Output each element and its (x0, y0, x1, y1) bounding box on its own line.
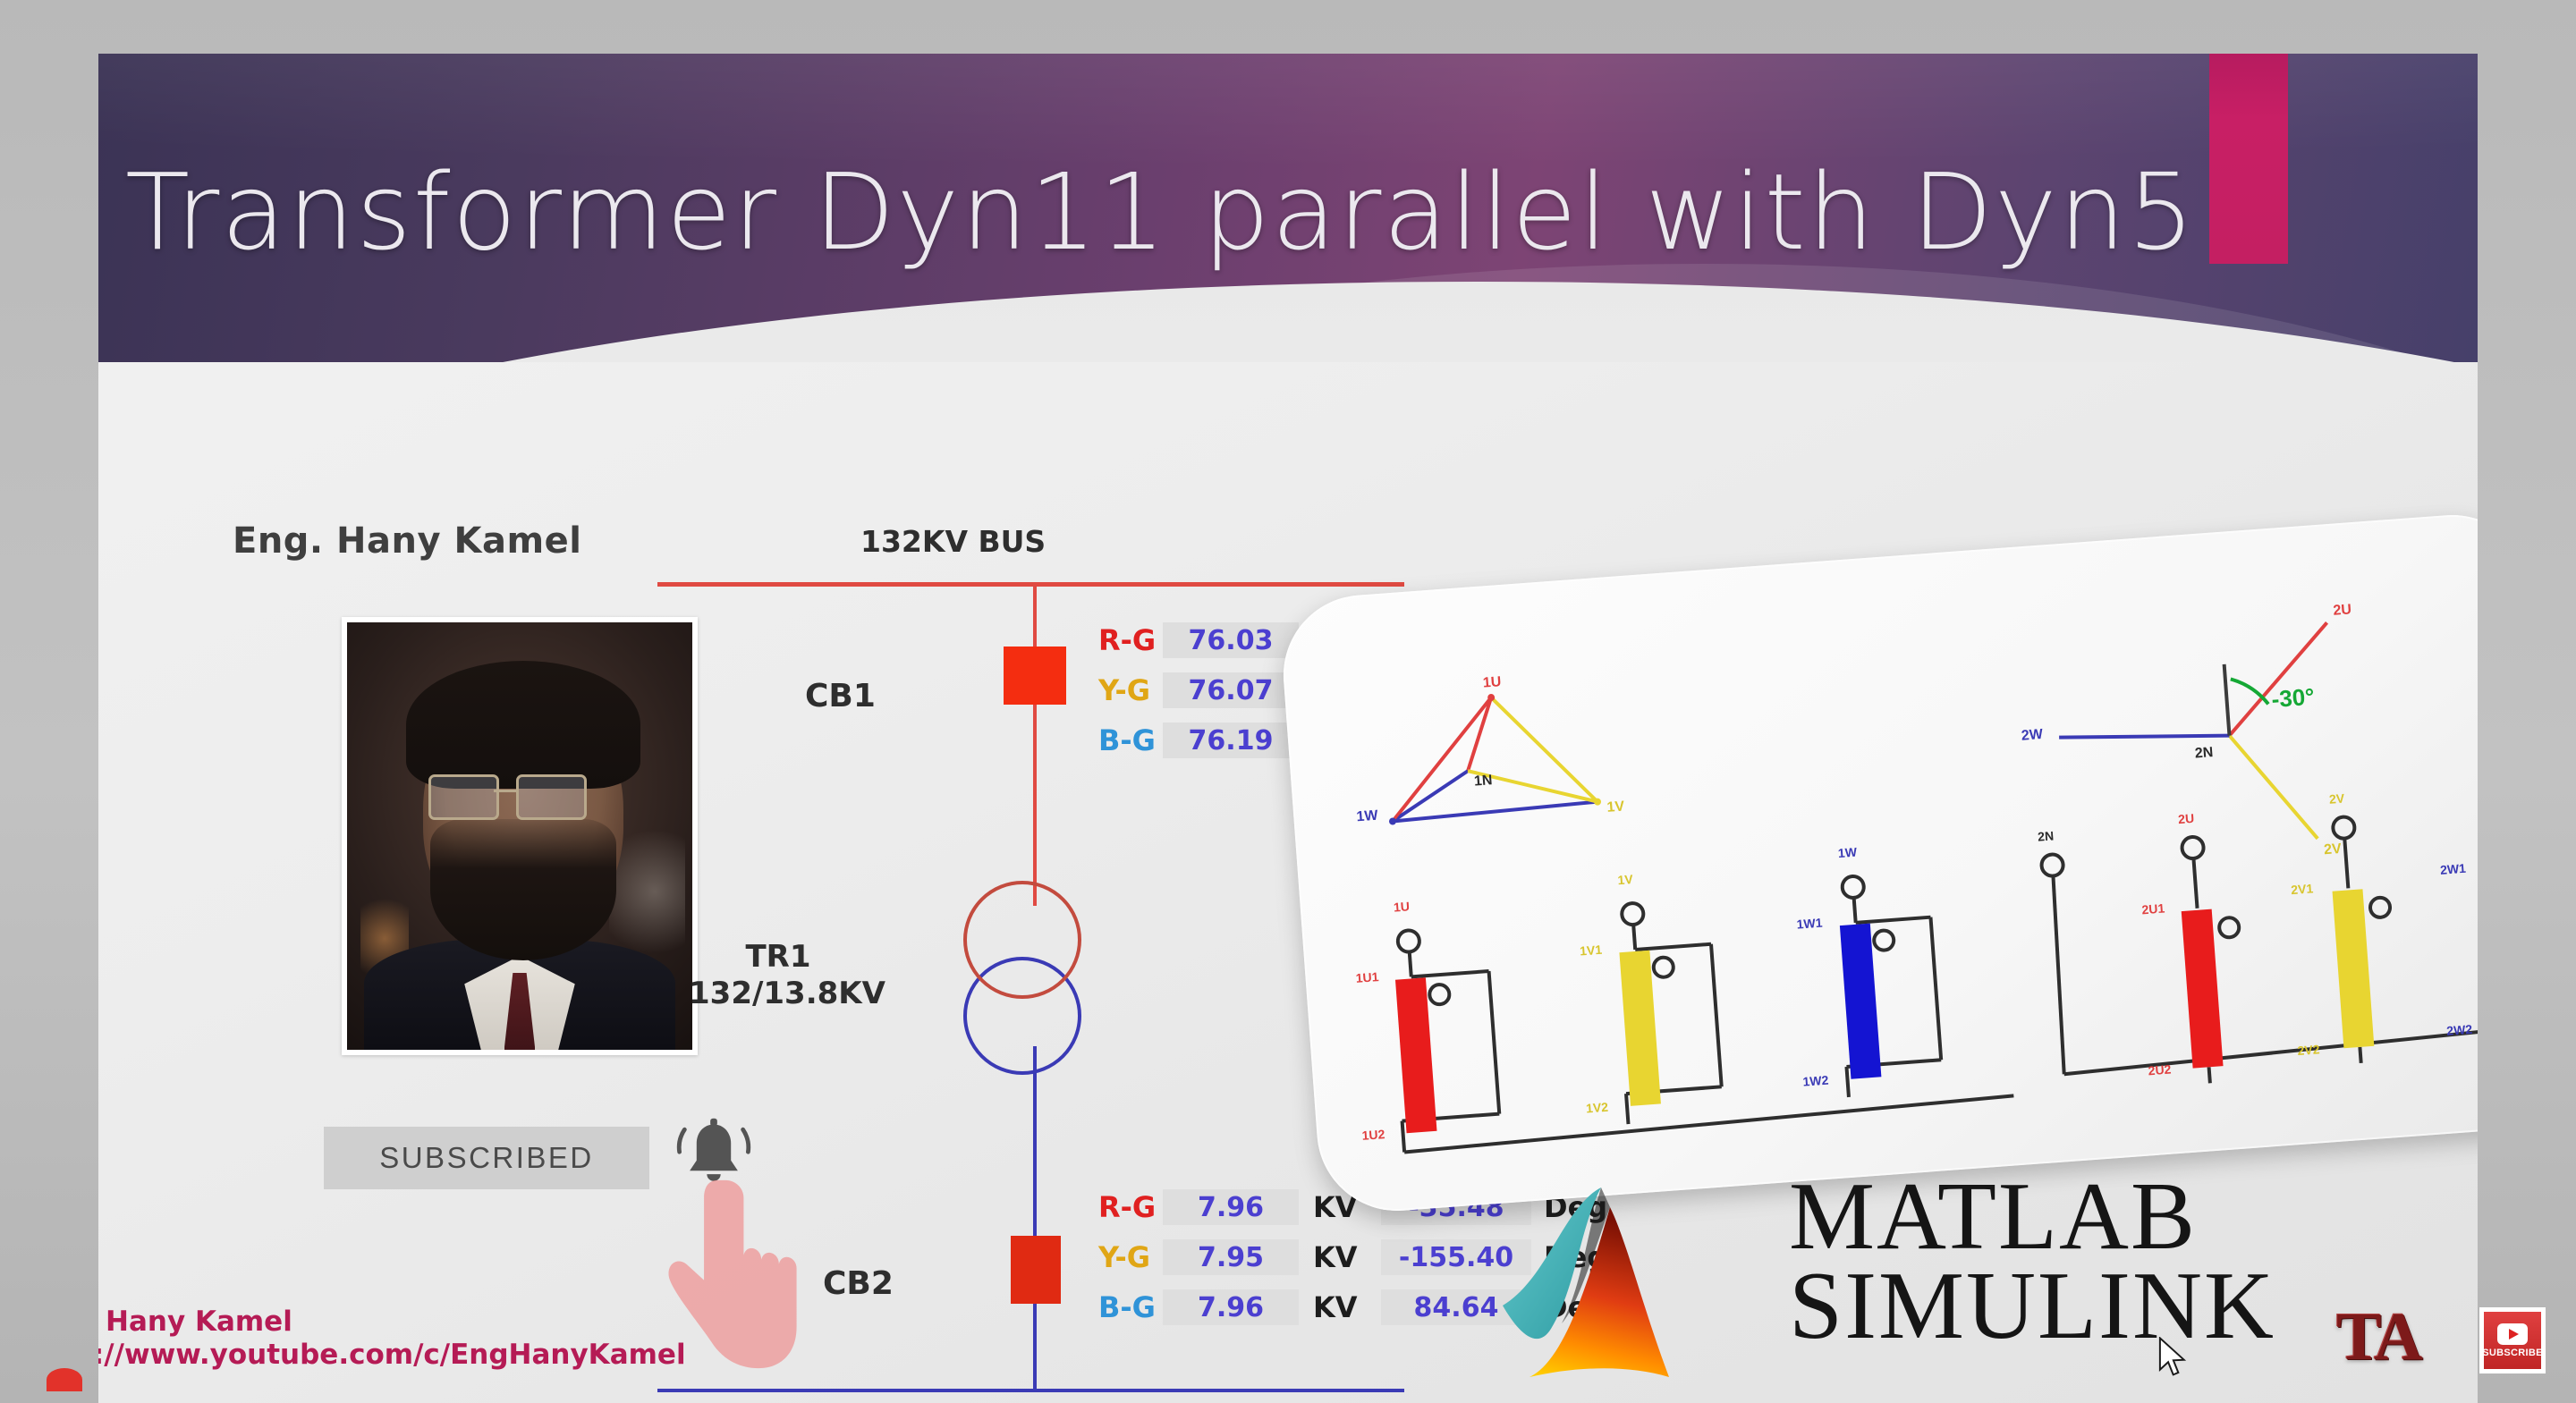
hv-bus-label: 132KV BUS (860, 524, 1046, 559)
watermark: Eng. Hany Kamel http://www.youtube.com/c… (98, 1306, 671, 1371)
photo-glasses-right (516, 774, 587, 820)
title-banner: Transformer Dyn11 parallel with Dyn5 (98, 54, 2478, 362)
subscribe-badge[interactable]: SUBSCRIBE (2479, 1307, 2546, 1373)
accent-bar (2209, 54, 2288, 264)
phasor-label-2w: 2W (2021, 727, 2044, 744)
coil-label-1w1: 1W1 (1796, 916, 1823, 932)
transformer-primary-coil (963, 881, 1081, 999)
presenter-name: Eng. Hany Kamel (233, 520, 582, 562)
winding-delta-coils (1394, 924, 1883, 1134)
voltage-unit: KV (1299, 1240, 1381, 1274)
coil-label-1v1: 1V1 (1580, 942, 1603, 959)
cb2-label: CB2 (823, 1265, 894, 1302)
phase-label: Y-G (1098, 1240, 1163, 1274)
cb1-label: CB1 (805, 678, 876, 714)
watermark-url: http://www.youtube.com/c/EngHanyKamel (98, 1339, 671, 1372)
coil-label-1u1: 1U1 (1355, 969, 1379, 985)
phasor-label-2v: 2V (2324, 841, 2343, 858)
avatar (342, 617, 698, 1055)
transformer-name: TR1 (689, 939, 868, 976)
terminal-node-2n (2041, 854, 2064, 877)
winding-star-diagram (2039, 794, 2478, 1095)
terminal-1u: 1U (1393, 899, 1410, 914)
photo-glasses-bridge (494, 790, 516, 792)
record-indicator (47, 1368, 82, 1391)
phase-label: R-G (1098, 623, 1163, 657)
subscribe-badge-inner: SUBSCRIBE (2484, 1312, 2541, 1369)
coil-label-2v1: 2V1 (2291, 881, 2314, 897)
coil-2u (2182, 909, 2224, 1069)
subscribed-button-label: SUBSCRIBED (379, 1141, 594, 1175)
coil-label-1w2: 1W2 (1802, 1073, 1829, 1089)
matlab-membrane-icon (1494, 1154, 1789, 1403)
phase-shift-annotation: -30° (2271, 683, 2316, 713)
matlab-simulink-logo: MATLAB SIMULINK (1494, 1154, 2451, 1403)
terminal-1w: 1W (1837, 845, 1858, 861)
coil-label-2u1: 2U1 (2141, 901, 2165, 917)
mouse-cursor (2157, 1337, 2188, 1380)
terminal-2u: 2U (2178, 811, 2195, 826)
vector-group-diagrams: 1U 1V 1W 1N -30° 2U 2V 2W 2N (1278, 510, 2478, 1217)
coil-label-1u2: 1U2 (1361, 1127, 1385, 1143)
voltage-unit: KV (1299, 1290, 1381, 1324)
subscribed-button[interactable]: SUBSCRIBED (324, 1127, 649, 1189)
phase-label: B-G (1098, 1290, 1163, 1324)
phasor-label-2n: 2N (2194, 745, 2214, 761)
coil-label-2v2: 2V2 (2297, 1042, 2320, 1058)
voltage-value: 76.19 (1163, 723, 1299, 758)
transformer-label: TR1 132/13.8KV (689, 939, 868, 1013)
voltage-value: 76.03 (1163, 622, 1299, 658)
ta-brand-logo: TA (2336, 1298, 2420, 1376)
coil-label-2w1: 2W1 (2440, 861, 2467, 877)
subscribe-badge-label: SUBSCRIBE (2482, 1348, 2543, 1358)
phase-label: R-G (1098, 1190, 1163, 1224)
coil-label-1v2: 1V2 (1585, 1100, 1608, 1116)
coil-2v (2333, 889, 2375, 1048)
watermark-name: Eng. Hany Kamel (98, 1306, 671, 1339)
phase-label: Y-G (1098, 673, 1163, 707)
lv-feeder-line (1033, 1046, 1037, 1391)
phasor-label-1v: 1V (1606, 799, 1625, 815)
terminal-2n: 2N (2038, 828, 2055, 843)
coil-label-2w2: 2W2 (2446, 1022, 2473, 1038)
screenshot-root: Transformer Dyn11 parallel with Dyn5 Eng… (0, 0, 2576, 1403)
matlab-line1: MATLAB (1789, 1168, 2451, 1266)
photo-hair (406, 661, 640, 789)
phasor-label-1w: 1W (1356, 808, 1379, 825)
phasor-label-2u: 2U (2333, 602, 2352, 618)
winding-star-coils (2180, 869, 2478, 1069)
lv-bus-line (657, 1389, 1404, 1392)
avatar-image (347, 622, 692, 1050)
presentation-slide: Transformer Dyn11 parallel with Dyn5 Eng… (98, 54, 2478, 1403)
photo-beard (430, 819, 616, 960)
hv-feeder-line (1033, 584, 1037, 906)
hv-bus-line (657, 582, 1404, 587)
winding-delta-diagram (1386, 866, 2014, 1152)
phasor-delta-diagram: 1U 1V 1W 1N (1347, 666, 1625, 834)
circuit-breaker-cb2[interactable] (1011, 1236, 1061, 1304)
youtube-play-icon (2497, 1323, 2528, 1345)
voltage-value: 7.96 (1163, 1289, 1299, 1325)
transformer-rating: 132/13.8KV (689, 976, 868, 1012)
circuit-breaker-cb1[interactable] (1004, 647, 1066, 705)
voltage-value: 7.96 (1163, 1189, 1299, 1225)
voltage-value: 76.07 (1163, 672, 1299, 708)
phase-label: B-G (1098, 723, 1163, 757)
phasor-label-1u: 1U (1482, 674, 1502, 690)
terminal-1v: 1V (1617, 872, 1634, 887)
terminal-2v: 2V (2328, 790, 2345, 806)
coil-label-2u2: 2U2 (2148, 1061, 2172, 1078)
phasor-label-1n: 1N (1473, 773, 1493, 789)
voltage-value: 7.95 (1163, 1239, 1299, 1275)
photo-glasses-left (428, 774, 499, 820)
page-title: Transformer Dyn11 parallel with Dyn5 (125, 150, 2451, 274)
